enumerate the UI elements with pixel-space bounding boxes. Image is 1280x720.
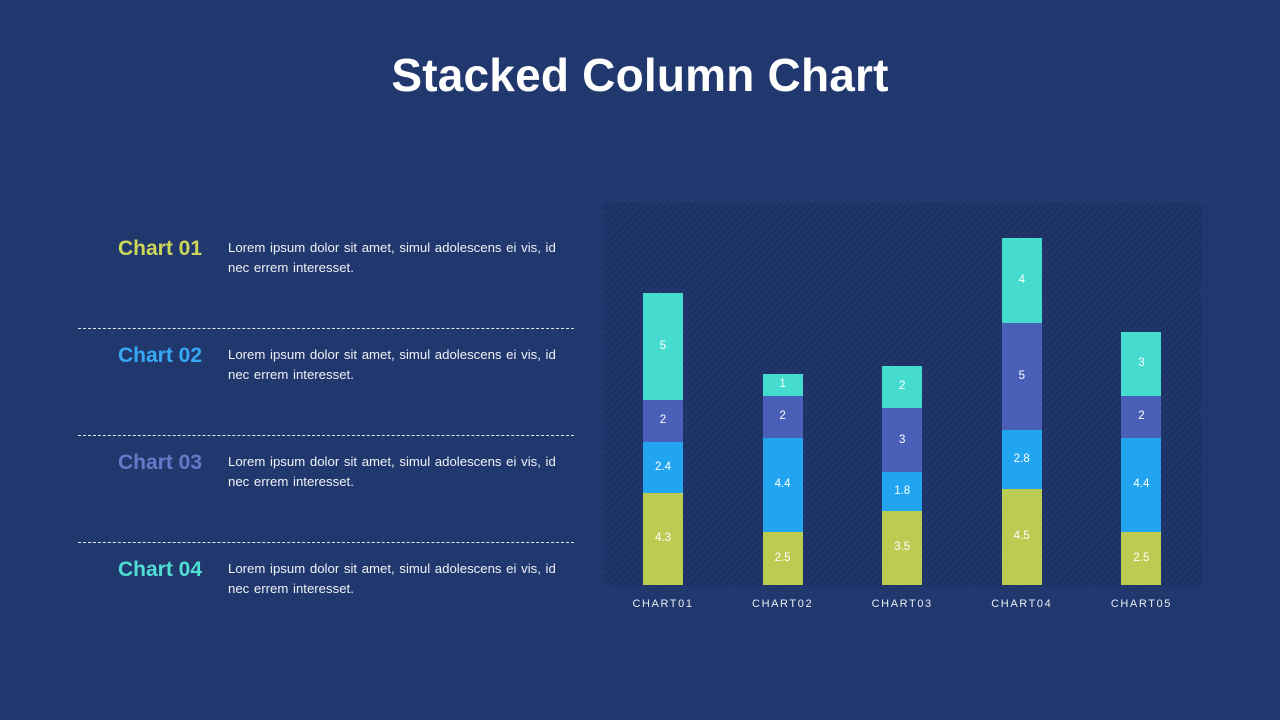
bar-column[interactable]: 4.32.425: [643, 293, 683, 585]
x-axis-label-2: CHART02: [723, 598, 843, 610]
legend-item-title: Chart 03: [78, 450, 228, 475]
bar-segment-value: 2.5: [775, 553, 791, 565]
bar-segment[interactable]: 2.5: [1121, 532, 1161, 585]
bar-segment-value: 4.5: [1014, 531, 1030, 543]
legend-item-1[interactable]: Chart 01Lorem ipsum dolor sit amet, simu…: [78, 222, 574, 329]
x-axis-label-5: CHART05: [1081, 598, 1201, 610]
bar-segment-value: 5: [660, 341, 666, 353]
bar-segment[interactable]: 4.5: [1002, 489, 1042, 585]
bar-segment[interactable]: 2: [763, 396, 803, 439]
bar-segment[interactable]: 2.8: [1002, 430, 1042, 490]
bar-column[interactable]: 2.54.423: [1121, 332, 1161, 585]
bar-segment-value: 5: [1019, 371, 1025, 383]
page-title: Stacked Column Chart: [0, 48, 1280, 102]
bar-segment-value: 4.4: [1133, 479, 1149, 491]
bar-segment[interactable]: 2: [1121, 396, 1161, 439]
bar-segment[interactable]: 2.4: [643, 442, 683, 493]
legend-item-title: Chart 02: [78, 343, 228, 368]
legend-item-description: Lorem ipsum dolor sit amet, simul adoles…: [228, 450, 574, 493]
bar-segment[interactable]: 3: [1121, 332, 1161, 396]
bar-segment[interactable]: 2: [643, 400, 683, 443]
bar-segment-value: 2: [899, 381, 905, 393]
bar-segment[interactable]: 4.4: [763, 438, 803, 532]
bar-segment-value: 4.4: [775, 479, 791, 491]
bar-segment-value: 2.8: [1014, 454, 1030, 466]
bar-segment-value: 3: [1138, 358, 1144, 370]
bar-segment-value: 1.8: [894, 486, 910, 498]
stacked-column-chart: 4.32.4252.54.4213.51.8324.52.8542.54.423: [604, 202, 1202, 586]
legend-item-3[interactable]: Chart 03Lorem ipsum dolor sit amet, simu…: [78, 436, 574, 543]
bar-column[interactable]: 2.54.421: [763, 374, 803, 585]
bar-segment-value: 1: [779, 379, 785, 391]
bar-segment-value: 2: [779, 411, 785, 423]
bar-segment-value: 4.3: [655, 533, 671, 545]
bar-segment[interactable]: 2.5: [763, 532, 803, 585]
bar-segment-value: 2: [1138, 411, 1144, 423]
legend-item-title: Chart 04: [78, 557, 228, 582]
legend-item-description: Lorem ipsum dolor sit amet, simul adoles…: [228, 557, 574, 600]
bar-segment[interactable]: 1.8: [882, 472, 922, 510]
x-axis-label-3: CHART03: [842, 598, 962, 610]
bar-segment[interactable]: 4: [1002, 238, 1042, 323]
x-axis-labels: CHART01CHART02CHART03CHART04CHART05: [604, 598, 1202, 618]
bar-segment[interactable]: 4.3: [643, 493, 683, 585]
bar-segment[interactable]: 5: [643, 293, 683, 399]
legend-item-description: Lorem ipsum dolor sit amet, simul adoles…: [228, 343, 574, 386]
bar-segment-value: 2.4: [655, 462, 671, 474]
x-axis-label-4: CHART04: [962, 598, 1082, 610]
bar-column[interactable]: 4.52.854: [1002, 238, 1042, 585]
bar-segment[interactable]: 2: [882, 366, 922, 409]
legend-list: Chart 01Lorem ipsum dolor sit amet, simu…: [78, 222, 574, 650]
bar-segment-value: 3.5: [894, 542, 910, 554]
bar-column[interactable]: 3.51.832: [882, 366, 922, 585]
bar-segment[interactable]: 1: [763, 374, 803, 395]
legend-item-2[interactable]: Chart 02Lorem ipsum dolor sit amet, simu…: [78, 329, 574, 436]
bar-segment[interactable]: 3: [882, 408, 922, 472]
bar-segment-value: 2: [660, 415, 666, 427]
legend-item-description: Lorem ipsum dolor sit amet, simul adoles…: [228, 236, 574, 279]
legend-item-4[interactable]: Chart 04Lorem ipsum dolor sit amet, simu…: [78, 543, 574, 650]
bar-segment-value: 3: [899, 435, 905, 447]
bar-segment-value: 2.5: [1133, 553, 1149, 565]
bar-segment-value: 4: [1019, 275, 1025, 287]
bar-segment[interactable]: 5: [1002, 323, 1042, 429]
bar-segment[interactable]: 3.5: [882, 511, 922, 586]
x-axis-label-1: CHART01: [603, 598, 723, 610]
legend-item-title: Chart 01: [78, 236, 228, 261]
bar-segment[interactable]: 4.4: [1121, 438, 1161, 532]
